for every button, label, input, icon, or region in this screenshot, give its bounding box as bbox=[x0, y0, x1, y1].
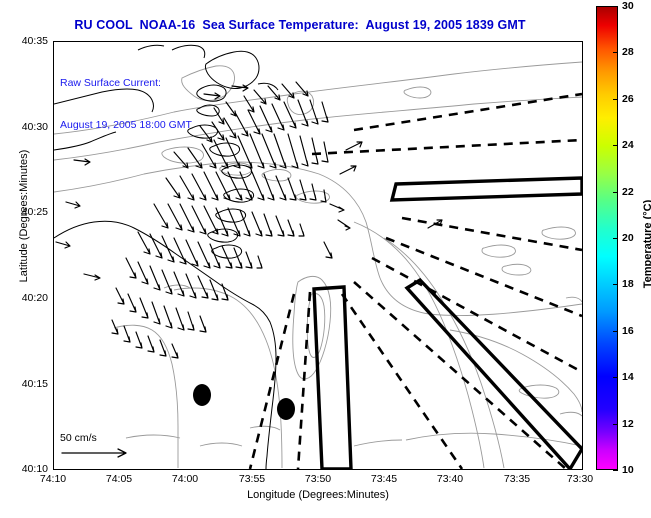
station-marker-east bbox=[277, 398, 295, 420]
radial-7 bbox=[342, 294, 462, 469]
colorbar-tick-label: 16 bbox=[622, 325, 634, 337]
colorbar-tick-label: 14 bbox=[622, 371, 634, 383]
x-tick-label: 74:05 bbox=[106, 473, 132, 485]
radar-radial-layer bbox=[250, 94, 582, 469]
x-tick-label: 73:35 bbox=[504, 473, 530, 485]
radial-9 bbox=[250, 294, 294, 469]
sst-map-figure: RU COOL NOAA-16 Sea Surface Temperature:… bbox=[0, 0, 651, 518]
raw-surface-current-annotation: Raw Surface Current: August 19, 2005 18:… bbox=[60, 48, 192, 160]
annotation-line-2: August 19, 2005 18:00 GMT bbox=[60, 118, 192, 132]
colorbar-tick-label: 24 bbox=[622, 139, 634, 151]
colorbar-tick-label: 18 bbox=[622, 278, 634, 290]
radar-beam-sector-south bbox=[314, 287, 351, 469]
y-axis-label: Latitude (Degrees:Minutes) bbox=[18, 106, 30, 326]
x-tick-label: 74:00 bbox=[172, 473, 198, 485]
colorbar-tick-label: 30 bbox=[622, 0, 634, 12]
x-axis-label: Longitude (Degrees:Minutes) bbox=[53, 489, 583, 501]
vector-scale-bar: 50 cm/s bbox=[60, 432, 150, 464]
figure-title: RU COOL NOAA-16 Sea Surface Temperature:… bbox=[0, 18, 600, 32]
station-marker-west bbox=[193, 384, 211, 406]
x-tick-label: 73:40 bbox=[437, 473, 463, 485]
vector-scale-arrow-icon bbox=[60, 447, 134, 459]
radial-3 bbox=[402, 218, 582, 250]
x-tick-label: 73:55 bbox=[239, 473, 265, 485]
colorbar-tick-label: 28 bbox=[622, 46, 634, 58]
radial-4 bbox=[386, 238, 582, 316]
colorbar-tick-label: 22 bbox=[622, 186, 634, 198]
radial-8 bbox=[298, 292, 310, 469]
y-tick-label: 40:35 bbox=[22, 35, 48, 47]
station-marker-layer bbox=[193, 384, 295, 420]
colorbar-tick-label: 20 bbox=[622, 232, 634, 244]
y-tick-label: 40:15 bbox=[22, 378, 48, 390]
x-tick-label: 73:30 bbox=[567, 473, 593, 485]
y-tick-label: 40:10 bbox=[22, 463, 48, 475]
colorbar-axis-label: Temperature (°C) bbox=[642, 164, 651, 324]
x-tick-label: 73:50 bbox=[305, 473, 331, 485]
annotation-line-1: Raw Surface Current: bbox=[60, 76, 192, 90]
colorbar-tick-label: 12 bbox=[622, 418, 634, 430]
x-tick-label: 73:45 bbox=[371, 473, 397, 485]
colorbar-tick-label: 10 bbox=[622, 464, 634, 476]
radar-beam-sector-north bbox=[392, 178, 582, 200]
colorbar-tick-label: 26 bbox=[622, 93, 634, 105]
vector-scale-label: 50 cm/s bbox=[60, 432, 150, 444]
